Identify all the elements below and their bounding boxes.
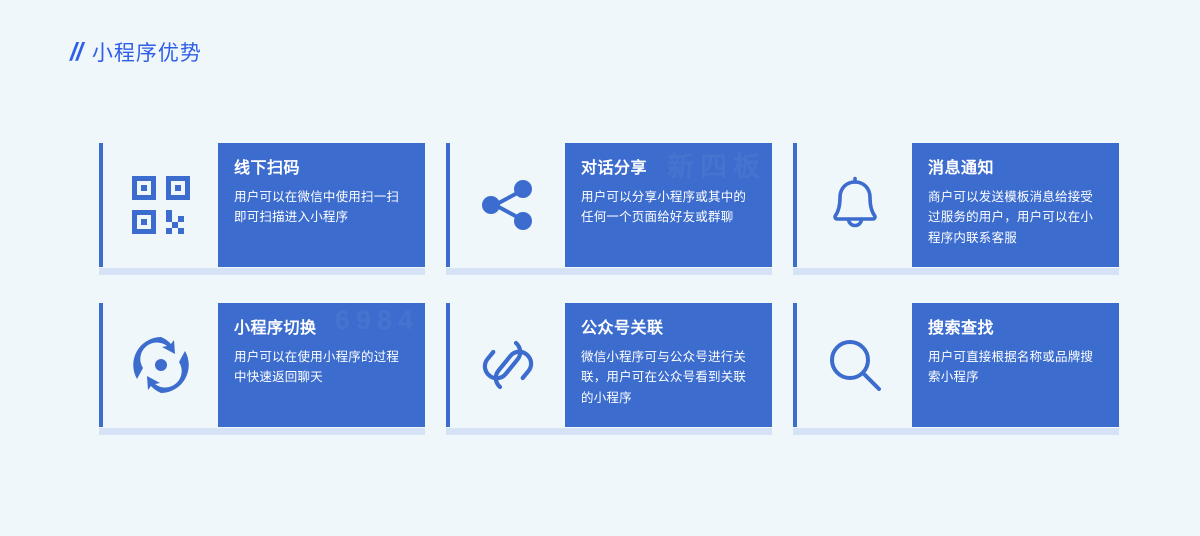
advantage-card-offline-scan[interactable]: 线下扫码 用户可以在微信中使用扫一扫即可扫描进入小程序: [99, 143, 425, 267]
heading-label: 小程序优势: [92, 43, 202, 64]
icon-panel: [797, 303, 912, 427]
card-body: 线下扫码 用户可以在微信中使用扫一扫即可扫描进入小程序: [218, 143, 425, 267]
icon-panel: [450, 143, 565, 267]
advantage-card-message-notification[interactable]: 消息通知 商户可以发送模板消息给接受过服务的用户，用户可以在小程序内联系客服: [793, 143, 1119, 267]
qr-code-icon: [130, 174, 192, 236]
card-body: 搜索查找 用户可直接根据名称或品牌搜索小程序: [912, 303, 1119, 427]
advantage-card-miniprogram-switch[interactable]: 6984 小程序切换 用户可以在使用小程序的过程中快速返回聊天: [99, 303, 425, 427]
search-magnifier-icon: [824, 334, 886, 396]
icon-panel: [103, 143, 218, 267]
icon-panel: [103, 303, 218, 427]
card-title: 搜索查找: [928, 319, 1103, 338]
card-description: 用户可以在使用小程序的过程中快速返回聊天: [234, 347, 409, 388]
card-description: 微信小程序可与公众号进行关联，用户可在公众号看到关联的小程序: [581, 347, 756, 408]
card-description: 用户可以分享小程序或其中的任何一个页面给好友或群聊: [581, 187, 756, 228]
card-title: 公众号关联: [581, 319, 756, 338]
card-body: 消息通知 商户可以发送模板消息给接受过服务的用户，用户可以在小程序内联系客服: [912, 143, 1119, 267]
advantage-card-search[interactable]: 搜索查找 用户可直接根据名称或品牌搜索小程序: [793, 303, 1119, 427]
advantage-card-conversation-share[interactable]: 新四板 对话分享 用户可以分享小程序或其中的任何一个页面给好友或群聊: [446, 143, 772, 267]
heading-slash-marker: //: [70, 40, 82, 65]
switch-pinwheel-icon: [130, 334, 192, 396]
advantage-card-grid: 线下扫码 用户可以在微信中使用扫一扫即可扫描进入小程序: [99, 143, 1119, 427]
page-title: // 小程序优势: [70, 40, 202, 65]
card-description: 用户可直接根据名称或品牌搜索小程序: [928, 347, 1103, 388]
card-title: 对话分享: [581, 159, 756, 178]
bell-icon: [824, 174, 886, 236]
card-title: 线下扫码: [234, 159, 409, 178]
card-body: 6984 小程序切换 用户可以在使用小程序的过程中快速返回聊天: [218, 303, 425, 427]
card-body: 新四板 对话分享 用户可以分享小程序或其中的任何一个页面给好友或群聊: [565, 143, 772, 267]
advantage-card-official-account-link[interactable]: 公众号关联 微信小程序可与公众号进行关联，用户可在公众号看到关联的小程序: [446, 303, 772, 427]
icon-panel: [797, 143, 912, 267]
card-title: 小程序切换: [234, 319, 409, 338]
card-title: 消息通知: [928, 159, 1103, 178]
link-chain-icon: [477, 334, 539, 396]
icon-panel: [450, 303, 565, 427]
share-nodes-icon: [477, 174, 539, 236]
card-description: 用户可以在微信中使用扫一扫即可扫描进入小程序: [234, 187, 409, 228]
card-body: 公众号关联 微信小程序可与公众号进行关联，用户可在公众号看到关联的小程序: [565, 303, 772, 427]
card-description: 商户可以发送模板消息给接受过服务的用户，用户可以在小程序内联系客服: [928, 187, 1103, 248]
